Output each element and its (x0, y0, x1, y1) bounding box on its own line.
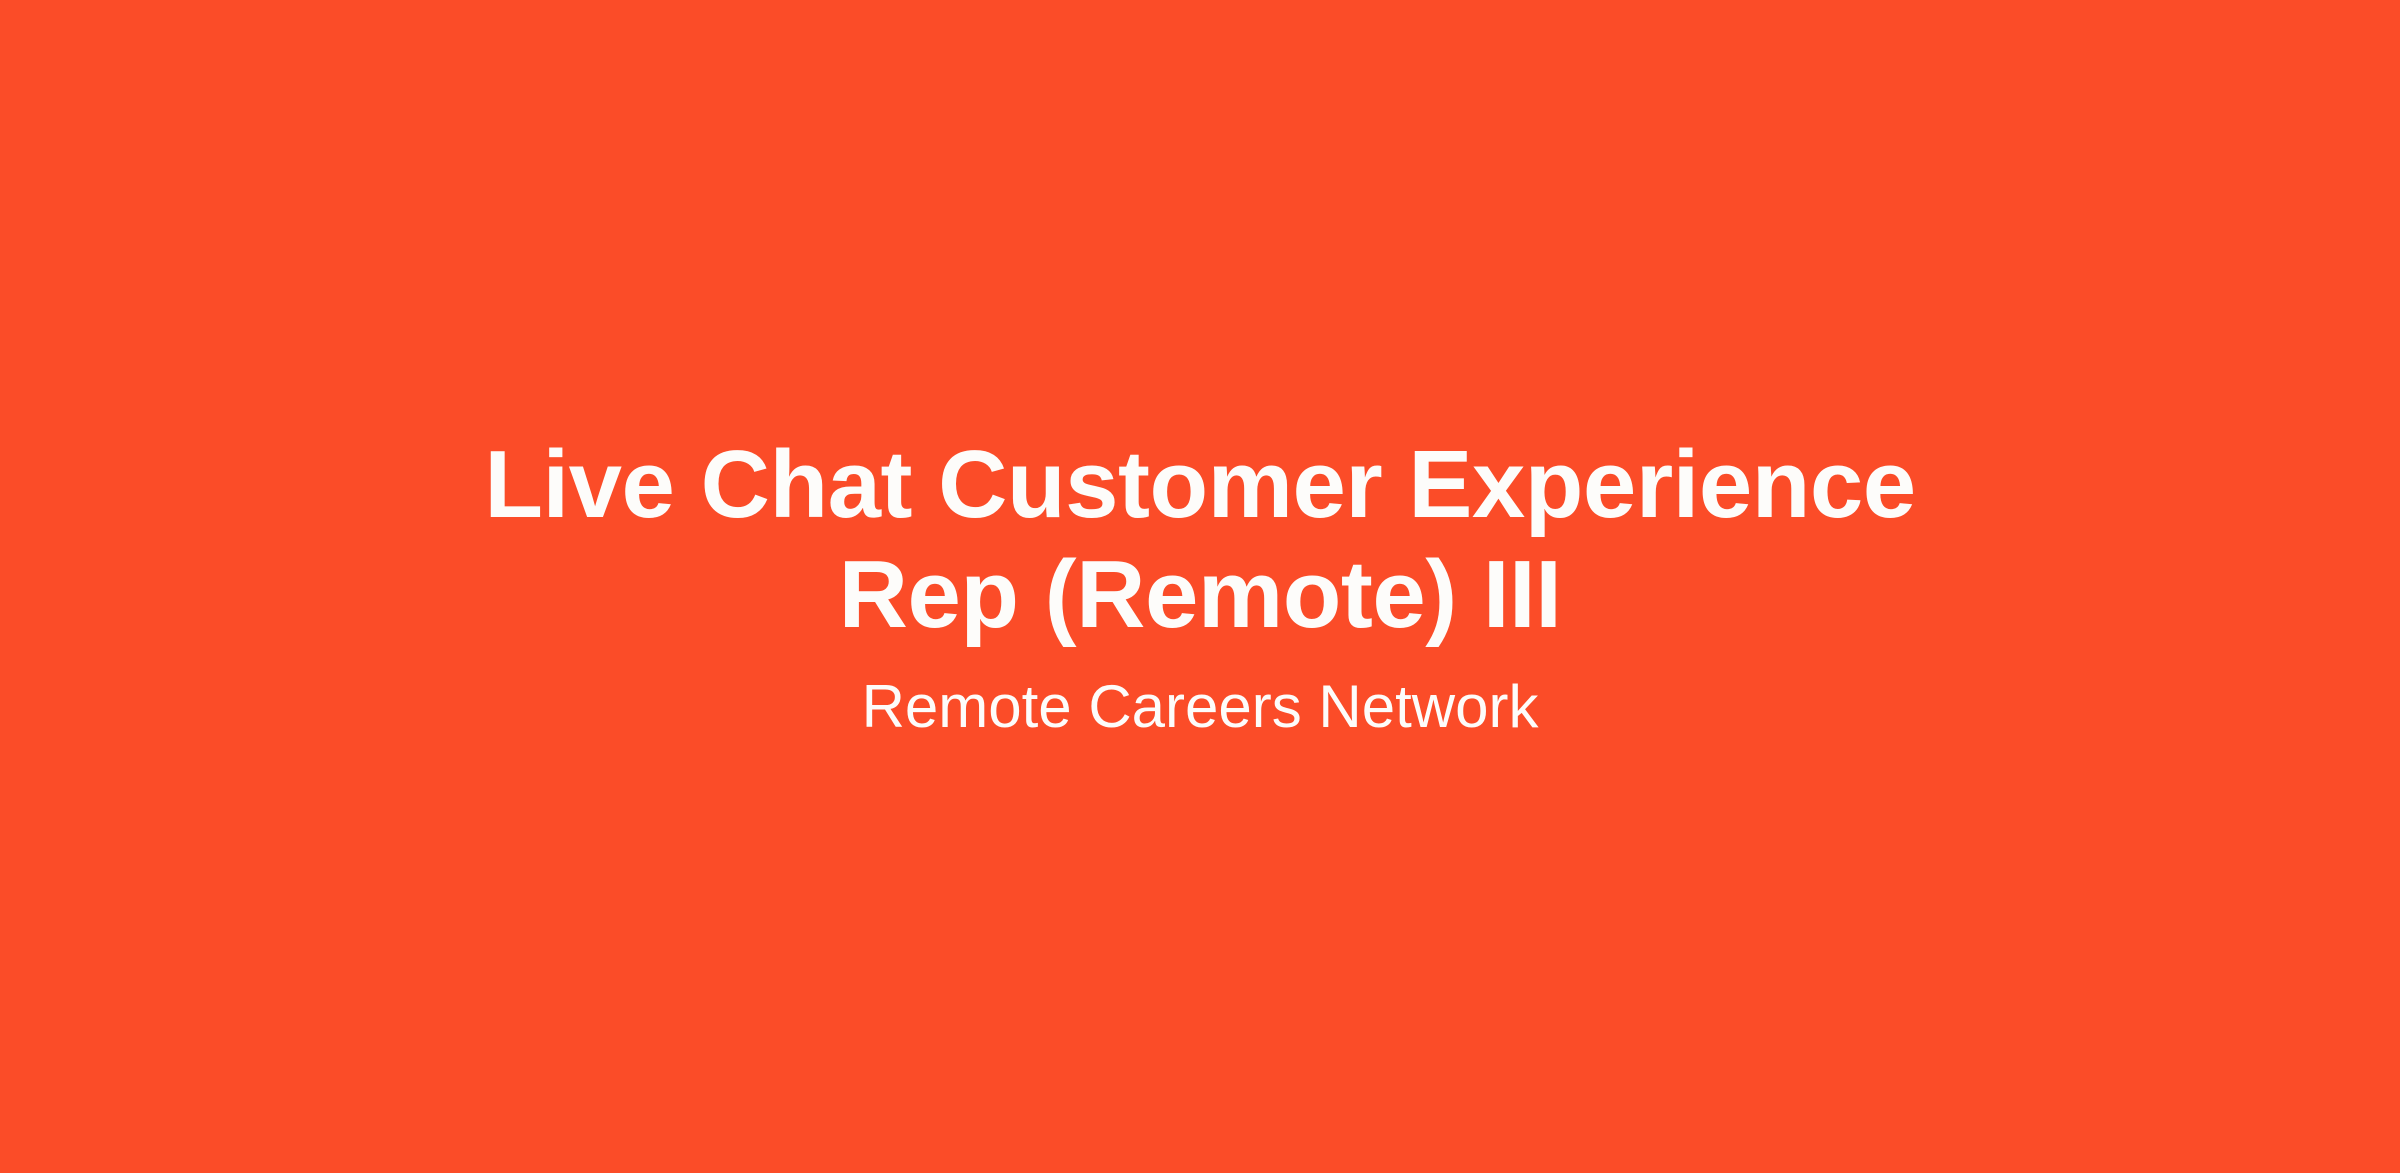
job-title: Live Chat Customer Experience Rep (Remot… (420, 430, 1980, 649)
company-name: Remote Careers Network (862, 671, 1539, 743)
job-posting-hero-card: Live Chat Customer Experience Rep (Remot… (0, 0, 2400, 1173)
hero-text-block: Live Chat Customer Experience Rep (Remot… (320, 430, 2080, 743)
